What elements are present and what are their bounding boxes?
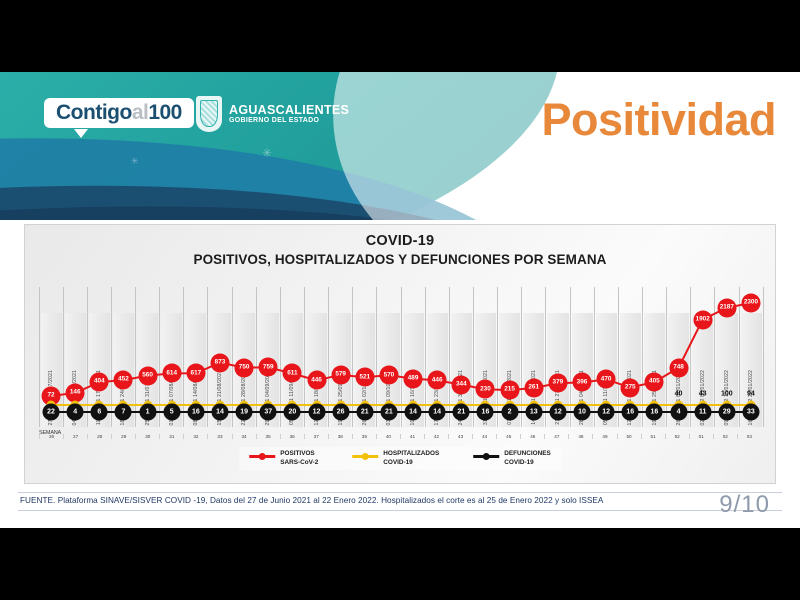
marker-positivos: 748 xyxy=(669,358,688,377)
semana-number: 44 xyxy=(472,434,496,439)
marker-defunciones: 29 xyxy=(718,404,735,421)
footer-divider-top xyxy=(18,492,782,493)
chart-subtitle: POSITIVOS, HOSPITALIZADOS Y DEFUNCIONES … xyxy=(25,249,775,267)
marker-defunciones: 21 xyxy=(453,404,470,421)
semana-number: 36 xyxy=(280,434,304,439)
semana-number: 32 xyxy=(183,434,207,439)
semana-number: 49 xyxy=(592,434,616,439)
marker-defunciones: 6 xyxy=(91,404,108,421)
marker-defunciones: 4 xyxy=(670,404,687,421)
semana-number: 28 xyxy=(87,434,111,439)
marker-defunciones: 2 xyxy=(501,404,518,421)
chart-title: COVID-19 xyxy=(25,225,775,249)
marker-positivos: 759 xyxy=(259,358,278,377)
marker-positivos: 873 xyxy=(211,353,230,372)
legend-positivos: POSITIVOSSARS-CoV-2 xyxy=(249,450,318,467)
legend-swatch xyxy=(249,451,275,461)
semana-number: 46 xyxy=(520,434,544,439)
semana-number: 50 xyxy=(617,434,641,439)
marker-positivos: 405 xyxy=(645,373,664,392)
virus-icon: ✳ xyxy=(262,146,272,160)
slide-header-banner: ✳ ✳ ✳ ✳ Contigoal100 AGUASCALIENTES GOBI… xyxy=(0,72,800,220)
marker-positivos: 2187 xyxy=(717,298,736,317)
marker-positivos: 570 xyxy=(379,366,398,385)
chart-plot-area: 27/06/2021 03/07/202104/07/2021 10/07/20… xyxy=(39,287,763,427)
semana-number: 37 xyxy=(304,434,328,439)
chart-image: COVID-19 POSITIVOS, HOSPITALIZADOS Y DEF… xyxy=(24,224,776,484)
page-number: 9/10 xyxy=(719,491,770,519)
coat-of-arms-icon xyxy=(196,96,222,132)
marker-positivos: 215 xyxy=(500,381,519,400)
marker-positivos: 560 xyxy=(138,366,157,385)
aguascalientes-government-logo: AGUASCALIENTES GOBIERNO DEL ESTADO xyxy=(196,96,349,132)
gob-state-name: AGUASCALIENTES xyxy=(229,104,349,117)
source-footnote: FUENTE. Plataforma SINAVE/SISVER COVID -… xyxy=(20,496,603,505)
marker-defunciones: 12 xyxy=(598,404,615,421)
semana-axis-label: SEMANA xyxy=(39,430,61,436)
marker-defunciones: 22 xyxy=(43,404,60,421)
virus-icon: ✳ xyxy=(131,156,139,167)
semana-number: 34 xyxy=(232,434,256,439)
legend-hospitalizados: HOSPITALIZADOSCOVID-19 xyxy=(352,450,439,467)
marker-positivos: 261 xyxy=(524,379,543,398)
marker-defunciones: 5 xyxy=(163,404,180,421)
marker-positivos: 379 xyxy=(548,374,567,393)
marker-positivos: 446 xyxy=(428,371,447,390)
logo-text-contigo: Contigo xyxy=(56,101,132,124)
semana-number: 31 xyxy=(159,434,183,439)
page-title: Positividad xyxy=(541,94,776,146)
marker-defunciones: 12 xyxy=(549,404,566,421)
marker-defunciones: 21 xyxy=(356,404,373,421)
marker-positivos: 750 xyxy=(235,358,254,377)
marker-positivos: 396 xyxy=(573,373,592,392)
marker-positivos: 614 xyxy=(162,364,181,383)
footer-divider-bottom xyxy=(18,510,782,511)
marker-defunciones: 16 xyxy=(187,404,204,421)
semana-number: 48 xyxy=(568,434,592,439)
semana-number: 33 xyxy=(207,434,231,439)
legend-label: DEFUNCIONESCOVID-19 xyxy=(504,450,551,467)
marker-defunciones: 13 xyxy=(525,404,542,421)
marker-defunciones: 37 xyxy=(260,404,277,421)
marker-defunciones: 10 xyxy=(574,404,591,421)
marker-defunciones: 11 xyxy=(694,404,711,421)
logo-text-100: 100 xyxy=(148,101,182,124)
marker-defunciones: 14 xyxy=(429,404,446,421)
marker-positivos: 579 xyxy=(331,365,350,384)
marker-defunciones: 16 xyxy=(646,404,663,421)
marker-defunciones: 16 xyxy=(477,404,494,421)
semana-number: 51 xyxy=(641,434,665,439)
semana-number: 41 xyxy=(400,434,424,439)
marker-positivos: 470 xyxy=(597,370,616,389)
semana-axis: 2627282930313233343536373839404142434445… xyxy=(39,429,761,443)
marker-defunciones: 16 xyxy=(622,404,639,421)
marker-defunciones: 12 xyxy=(308,404,325,421)
chart-legend: POSITIVOSSARS-CoV-2HOSPITALIZADOSCOVID-1… xyxy=(239,447,561,470)
marker-defunciones: 7 xyxy=(115,404,132,421)
semana-number: 47 xyxy=(544,434,568,439)
marker-positivos: 521 xyxy=(355,368,374,387)
presentation-slide: ✳ ✳ ✳ ✳ Contigoal100 AGUASCALIENTES GOBI… xyxy=(0,72,800,528)
hospitalizados-value-label: 100 xyxy=(721,391,733,398)
semana-number: 03 xyxy=(737,434,761,439)
marker-positivos: 344 xyxy=(452,375,471,394)
semana-number: 01 xyxy=(689,434,713,439)
semana-number: 29 xyxy=(111,434,135,439)
marker-positivos: 489 xyxy=(404,369,423,388)
marker-defunciones: 14 xyxy=(212,404,229,421)
marker-positivos: 617 xyxy=(186,364,205,383)
hospitalizados-value-label: 43 xyxy=(699,391,707,398)
marker-defunciones: 33 xyxy=(742,404,759,421)
marker-defunciones: 21 xyxy=(380,404,397,421)
marker-positivos: 611 xyxy=(283,364,302,383)
marker-positivos: 1902 xyxy=(693,310,712,329)
semana-number: 43 xyxy=(448,434,472,439)
semana-number: 38 xyxy=(328,434,352,439)
legend-swatch xyxy=(352,451,378,461)
legend-label: POSITIVOSSARS-CoV-2 xyxy=(280,450,318,467)
semana-number: 52 xyxy=(665,434,689,439)
marker-defunciones: 14 xyxy=(405,404,422,421)
marker-defunciones: 20 xyxy=(284,404,301,421)
semana-number: 39 xyxy=(352,434,376,439)
hospitalizados-value-label: 94 xyxy=(747,391,755,398)
logo-text-al: al xyxy=(132,101,149,124)
hospitalizados-value-label: 40 xyxy=(675,391,683,398)
logo-speech-tail xyxy=(74,129,88,138)
marker-defunciones: 4 xyxy=(67,404,84,421)
marker-positivos: 446 xyxy=(307,371,326,390)
contigo-al-100-logo: Contigoal100 xyxy=(44,98,194,128)
marker-defunciones: 1 xyxy=(139,404,156,421)
gob-subtitle: GOBIERNO DEL ESTADO xyxy=(229,117,349,124)
marker-defunciones: 19 xyxy=(236,404,253,421)
semana-number: 42 xyxy=(424,434,448,439)
semana-number: 02 xyxy=(713,434,737,439)
legend-defunciones: DEFUNCIONESCOVID-19 xyxy=(473,450,551,467)
marker-defunciones: 26 xyxy=(332,404,349,421)
marker-positivos: 275 xyxy=(621,378,640,397)
semana-number: 30 xyxy=(135,434,159,439)
legend-label: HOSPITALIZADOSCOVID-19 xyxy=(383,450,439,467)
legend-swatch xyxy=(473,451,499,461)
semana-number: 40 xyxy=(376,434,400,439)
marker-positivos: 2300 xyxy=(741,294,760,313)
marker-positivos: 404 xyxy=(90,373,109,392)
semana-number: 35 xyxy=(256,434,280,439)
marker-positivos: 452 xyxy=(114,371,133,390)
marker-positivos: 230 xyxy=(476,380,495,399)
semana-number: 27 xyxy=(63,434,87,439)
semana-number: 45 xyxy=(496,434,520,439)
